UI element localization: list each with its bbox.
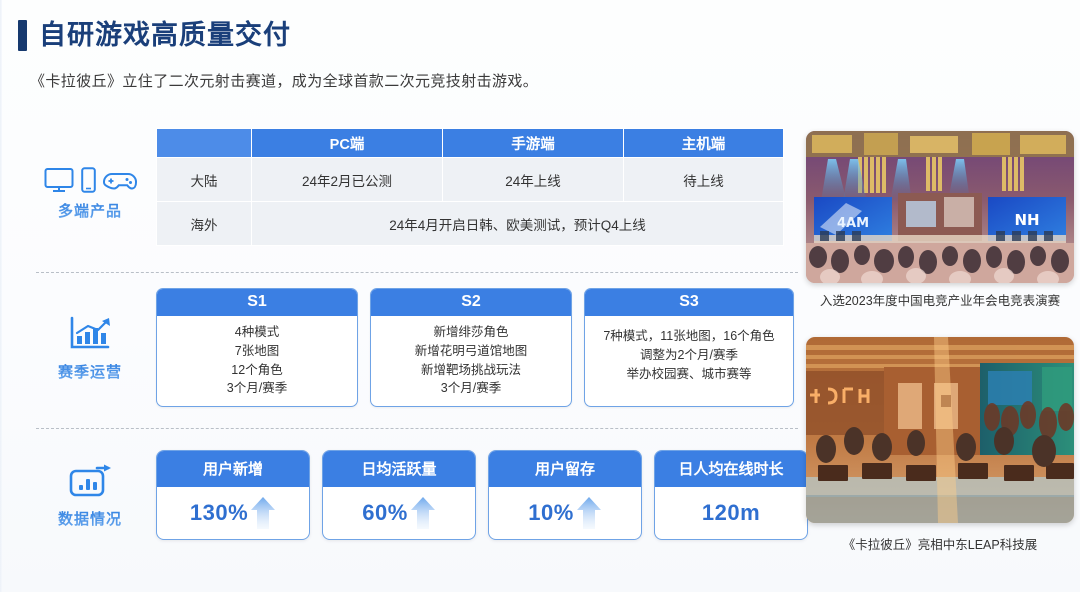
section-title-data-overview: 数据情况 [58, 508, 122, 529]
season-card-s1: S1 4种模式 7张地图 12个角色 3个月/赛季 [156, 288, 358, 407]
table-header-blank [157, 129, 252, 158]
season-card-title: S3 [585, 289, 793, 316]
divider-2 [36, 428, 798, 429]
page-subtitle: 《卡拉彼丘》立住了二次元射击赛道，成为全球首款二次元竞技射击游戏。 [30, 70, 538, 91]
section-label-multi-platform: 多端产品 [24, 153, 156, 221]
section-season-operation: 赛季运营 S1 4种模式 7张地图 12个角色 3个月/赛季 S2 新增绯莎角色… [24, 288, 794, 407]
metric-card-list: 用户新增 130% 日均活跃量 60% [156, 450, 808, 540]
season-line: 调整为2个月/赛季 [589, 346, 789, 365]
metric-value: 130% [190, 500, 248, 526]
leap-expo-booth-photo [806, 337, 1074, 523]
photo-leap-expo [806, 337, 1074, 523]
section-data-overview: 数据情况 用户新增 130% 日均活跃量 60% [24, 450, 808, 540]
season-line: 12个角色 [161, 361, 353, 380]
season-line: 新增靶场挑战玩法 [375, 361, 567, 380]
table-row: 大陆 24年2月已公测 24年上线 待上线 [157, 158, 784, 202]
up-arrow-icon [410, 496, 436, 530]
metric-value: 120m [702, 500, 760, 526]
season-card-title: S2 [371, 289, 571, 316]
svg-text:4AM: 4AM [837, 216, 869, 231]
season-line: 3个月/赛季 [161, 379, 353, 398]
esports-award-ceremony-photo: 4AM NH [806, 131, 1074, 283]
title-accent-bar [18, 20, 27, 51]
section-title-season-operation: 赛季运营 [58, 361, 122, 382]
season-card-body: 4种模式 7张地图 12个角色 3个月/赛季 [157, 316, 357, 406]
photo-esports-ceremony: 4AM NH [806, 131, 1074, 283]
metric-body: 130% [157, 487, 309, 539]
section-multi-platform: 多端产品 PC端 手游端 主机端 大陆 24年2月已公测 24年上线 待上线 [24, 128, 784, 246]
metric-card-daily-online-time: 日人均在线时长 120m [654, 450, 808, 540]
caption-esports-ceremony: 入选2023年度中国电竞产业年会电竞表演赛 [806, 290, 1074, 309]
up-arrow-icon [250, 496, 276, 530]
metric-body: 120m [655, 487, 807, 539]
table-header-row: PC端 手游端 主机端 [157, 129, 784, 158]
page-header: 自研游戏高质量交付 [18, 20, 291, 51]
table-header-mobile: 手游端 [443, 129, 624, 158]
multi-platform-icon-group [44, 153, 137, 193]
cell-mainland-console: 待上线 [624, 158, 784, 202]
caption-leap-expo: 《卡拉彼丘》亮相中东LEAP科技展 [806, 534, 1074, 553]
season-card-list: S1 4种模式 7张地图 12个角色 3个月/赛季 S2 新增绯莎角色 新增花明… [156, 288, 794, 407]
monitor-icon [44, 167, 74, 193]
bar-chart-box-icon [67, 463, 113, 501]
season-card-title: S1 [157, 289, 357, 316]
up-arrow-icon [576, 496, 602, 530]
metric-card-retention: 用户留存 10% [488, 450, 642, 540]
season-line: 新增花明弓道馆地图 [375, 342, 567, 361]
season-line: 新增绯莎角色 [375, 323, 567, 342]
season-card-s2: S2 新增绯莎角色 新增花明弓道馆地图 新增靶场挑战玩法 3个月/赛季 [370, 288, 572, 407]
section-title-multi-platform: 多端产品 [58, 200, 122, 221]
metric-label: 用户留存 [489, 451, 641, 487]
season-card-body: 7种模式，11张地图，16个角色 调整为2个月/赛季 举办校园赛、城市赛等 [585, 316, 793, 396]
metric-card-dau: 日均活跃量 60% [322, 450, 476, 540]
metric-body: 10% [489, 487, 641, 539]
metric-value: 60% [362, 500, 408, 526]
season-line: 7种模式，11张地图，16个角色 [589, 327, 789, 346]
metric-value: 10% [528, 500, 574, 526]
table-header-console: 主机端 [624, 129, 784, 158]
metric-label: 用户新增 [157, 451, 309, 487]
season-line: 7张地图 [161, 342, 353, 361]
platform-table: PC端 手游端 主机端 大陆 24年2月已公测 24年上线 待上线 海外 24年… [156, 128, 784, 246]
table-header-pc: PC端 [252, 129, 443, 158]
section-label-data-overview: 数据情况 [24, 461, 156, 529]
phone-icon [81, 167, 96, 193]
gamepad-icon [103, 169, 137, 193]
row-region-mainland: 大陆 [157, 158, 252, 202]
cell-overseas-merged: 24年4月开启日韩、欧美测试，预计Q4上线 [252, 202, 784, 246]
data-icon-group [67, 461, 113, 501]
growth-chart-icon [68, 314, 112, 354]
page-title: 自研游戏高质量交付 [39, 22, 291, 49]
table-row: 海外 24年4月开启日韩、欧美测试，预计Q4上线 [157, 202, 784, 246]
season-line: 举办校园赛、城市赛等 [589, 365, 789, 384]
svg-text:NH: NH [1014, 211, 1039, 229]
season-icon-group [68, 314, 112, 354]
season-line: 3个月/赛季 [375, 379, 567, 398]
metric-body: 60% [323, 487, 475, 539]
slide-root: 自研游戏高质量交付 《卡拉彼丘》立住了二次元射击赛道，成为全球首款二次元竞技射击… [0, 0, 1080, 592]
divider-1 [36, 272, 798, 273]
metric-card-new-users: 用户新增 130% [156, 450, 310, 540]
metric-label: 日均活跃量 [323, 451, 475, 487]
section-label-season-operation: 赛季运营 [24, 314, 156, 382]
season-card-body: 新增绯莎角色 新增花明弓道馆地图 新增靶场挑战玩法 3个月/赛季 [371, 316, 571, 406]
cell-mainland-mobile: 24年上线 [443, 158, 624, 202]
metric-label: 日人均在线时长 [655, 451, 807, 487]
season-card-s3: S3 7种模式，11张地图，16个角色 调整为2个月/赛季 举办校园赛、城市赛等 [584, 288, 794, 407]
row-region-overseas: 海外 [157, 202, 252, 246]
season-line: 4种模式 [161, 323, 353, 342]
cell-mainland-pc: 24年2月已公测 [252, 158, 443, 202]
